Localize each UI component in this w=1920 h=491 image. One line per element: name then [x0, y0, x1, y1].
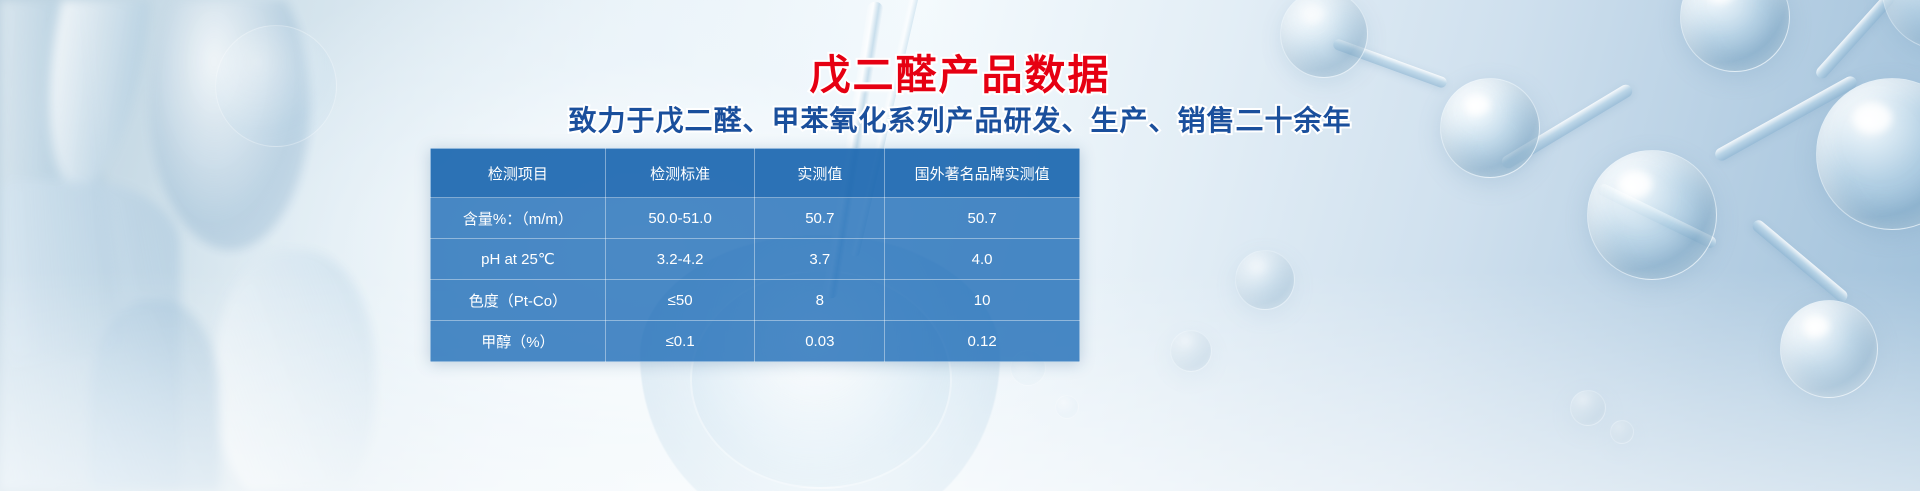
- page-subtitle: 致力于戊二醛、甲苯氧化系列产品研发、生产、销售二十余年: [0, 104, 1920, 138]
- table-row: 色度（Pt-Co） ≤50 8 10: [431, 280, 1080, 321]
- table-row: pH at 25℃ 3.2-4.2 3.7 4.0: [431, 239, 1080, 280]
- banner-stage: 戊二醛产品数据 致力于戊二醛、甲苯氧化系列产品研发、生产、销售二十余年 检测项目…: [0, 0, 1920, 491]
- cell-item: pH at 25℃: [431, 239, 606, 280]
- cell-standard: 3.2-4.2: [605, 239, 755, 280]
- table-header-row: 检测项目 检测标准 实测值 国外著名品牌实测值: [431, 149, 1080, 198]
- cell-item: 甲醇（%）: [431, 321, 606, 362]
- table-row: 甲醇（%） ≤0.1 0.03 0.12: [431, 321, 1080, 362]
- cell-foreign: 4.0: [885, 239, 1080, 280]
- cell-item: 色度（Pt-Co）: [431, 280, 606, 321]
- cell-measured: 0.03: [755, 321, 885, 362]
- product-data-table: 检测项目 检测标准 实测值 国外著名品牌实测值 含量%：（m/m） 50.0-5…: [430, 148, 1080, 362]
- cell-foreign: 0.12: [885, 321, 1080, 362]
- column-header-item: 检测项目: [431, 149, 606, 198]
- cell-standard: 50.0-51.0: [605, 198, 755, 239]
- column-header-foreign: 国外著名品牌实测值: [885, 149, 1080, 198]
- cell-measured: 50.7: [755, 198, 885, 239]
- cell-standard: ≤50: [605, 280, 755, 321]
- column-header-measured: 实测值: [755, 149, 885, 198]
- table-row: 含量%：（m/m） 50.0-51.0 50.7 50.7: [431, 198, 1080, 239]
- page-title: 戊二醛产品数据: [0, 52, 1920, 98]
- cell-measured: 8: [755, 280, 885, 321]
- cell-item: 含量%：（m/m）: [431, 198, 606, 239]
- cell-foreign: 50.7: [885, 198, 1080, 239]
- cell-standard: ≤0.1: [605, 321, 755, 362]
- column-header-standard: 检测标准: [605, 149, 755, 198]
- cell-foreign: 10: [885, 280, 1080, 321]
- cell-measured: 3.7: [755, 239, 885, 280]
